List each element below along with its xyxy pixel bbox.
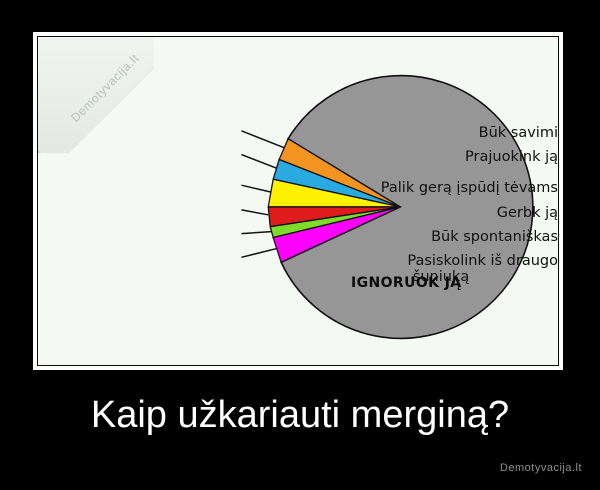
leader-line-2 — [241, 155, 277, 169]
callout-text: Būk spontaniškas — [431, 229, 558, 245]
image-frame: Būk savimi Prajuokink ją Palik gerą įspū… — [33, 32, 563, 370]
callout-label-buk-spontaniskas: Būk spontaniškas — [360, 229, 558, 245]
callout-text: Prajuokink ją — [465, 149, 558, 165]
callout-text: Palik gerą įspūdį tėvams — [381, 180, 558, 196]
callout-label-prajuokink-ja: Prajuokink ją — [360, 149, 558, 165]
callout-text: Pasiskolink iš draugo — [407, 253, 558, 269]
callout-label-buk-savimi: Būk savimi — [360, 125, 558, 141]
callout-text: Gerbk ją — [497, 205, 558, 221]
leader-line-3 — [241, 185, 271, 192]
demotivational-poster: Būk savimi Prajuokink ją Palik gerą įspū… — [0, 0, 600, 490]
image-frame-inner: Būk savimi Prajuokink ją Palik gerą įspū… — [37, 36, 559, 366]
leader-line-4 — [241, 210, 268, 215]
leader-line-5 — [241, 232, 271, 234]
poster-caption: Kaip užkariauti merginą? — [0, 392, 600, 438]
site-watermark: Demotyvacija.lt — [500, 462, 582, 474]
callout-label-gerbk-ja: Gerbk ją — [360, 205, 558, 221]
leader-line-6 — [241, 248, 277, 257]
callout-text: Būk savimi — [479, 125, 558, 141]
callout-label-palik-gera-ispudi-tevams: Palik gerą įspūdį tėvams — [360, 180, 558, 196]
pie-label-ignoruok-ja: IGNORUOK JĄ — [351, 275, 462, 291]
leader-line-1 — [241, 131, 284, 148]
